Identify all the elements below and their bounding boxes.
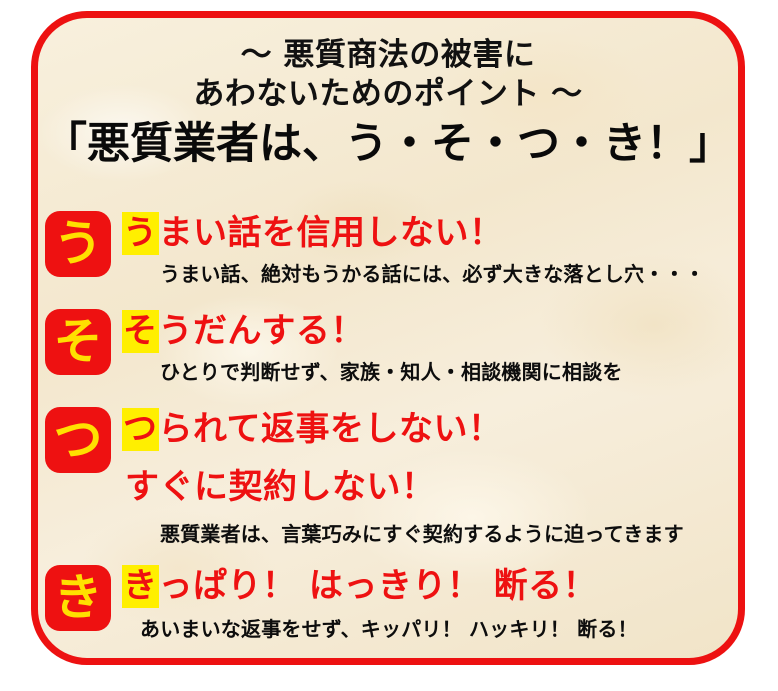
point-row-ki: き きっぱり！ はっきり！ 断る！ あいまいな返事をせず、キッパリ！ ハッキリ！… xyxy=(38,545,738,655)
point-headline-tsu-second: すぐに契約しない！ xyxy=(122,464,724,510)
point-body-tsu: つられて返事をしない！ すぐに契約しない！ 悪質業者は、言葉巧みにすぐ契約するよ… xyxy=(122,385,738,548)
point-headline-tsu: つられて返事をしない！ xyxy=(122,406,724,452)
point-body-u: うまい話を信用しない！ うまい話、絶対もうかる話には、必ず大きな落とし穴・・・ xyxy=(122,189,738,288)
headline-highlight-char-ki: き xyxy=(122,565,159,608)
headline-highlight-char-u: う xyxy=(122,212,159,255)
page-title: 「悪質業者は、う・そ・つ・き！」 xyxy=(38,116,738,172)
headline-rest-tsu: られて返事をしない！ xyxy=(159,409,503,449)
point-body-ki: きっぱり！ はっきり！ 断る！ あいまいな返事をせず、キッパリ！ ハッキリ！ 断… xyxy=(122,545,738,643)
point-row-u: う うまい話を信用しない！ うまい話、絶対もうかる話には、必ず大きな落とし穴・・… xyxy=(38,189,738,287)
poster-card: ～ 悪質商法の被害に あわないためのポイント ～ 「悪質業者は、う・そ・つ・き！… xyxy=(31,11,745,665)
point-subtext-ki: あいまいな返事をせず、キッパリ！ ハッキリ！ 断る！ xyxy=(122,615,724,643)
headline-rest-u: まい話を信用しない！ xyxy=(159,213,504,253)
badge-u: う xyxy=(45,211,111,277)
headline-highlight-char-so: そ xyxy=(122,310,159,353)
point-headline-so: そうだんする！ xyxy=(122,308,724,354)
point-subtext-u: うまい話、絶対もうかる話には、必ず大きな落とし穴・・・ xyxy=(122,260,724,288)
poster-heading: ～ 悪質商法の被害に あわないためのポイント ～ 「悪質業者は、う・そ・つ・き！… xyxy=(38,36,738,172)
point-row-tsu: つ つられて返事をしない！ すぐに契約しない！ 悪質業者は、言葉巧みにすぐ契約す… xyxy=(38,385,738,545)
headline-rest-so: うだんする！ xyxy=(159,311,365,351)
point-row-so: そ そうだんする！ ひとりで判断せず、家族・知人・相談機関に相談を xyxy=(38,287,738,385)
poster-root: ～ 悪質商法の被害に あわないためのポイント ～ 「悪質業者は、う・そ・つ・き！… xyxy=(0,0,778,691)
point-headline-u: うまい話を信用しない！ xyxy=(122,210,724,256)
badge-so: そ xyxy=(45,309,111,375)
badge-tsu: つ xyxy=(45,407,111,473)
point-body-so: そうだんする！ ひとりで判断せず、家族・知人・相談機関に相談を xyxy=(122,287,738,386)
points-list: う うまい話を信用しない！ うまい話、絶対もうかる話には、必ず大きな落とし穴・・… xyxy=(38,189,738,655)
point-subtext-so: ひとりで判断せず、家族・知人・相談機関に相談を xyxy=(122,358,724,386)
point-subtext-tsu: 悪質業者は、言葉巧みにすぐ契約するように迫ってきます xyxy=(122,520,724,548)
headline-highlight-char-tsu: つ xyxy=(122,408,159,451)
point-headline-ki: きっぱり！ はっきり！ 断る！ xyxy=(122,563,724,609)
badge-ki: き xyxy=(45,565,111,631)
heading-line-1: ～ 悪質商法の被害に xyxy=(38,36,738,75)
heading-line-2: あわないためのポイント ～ xyxy=(38,75,738,114)
headline-rest-ki: っぱり！ はっきり！ 断る！ xyxy=(159,566,598,606)
